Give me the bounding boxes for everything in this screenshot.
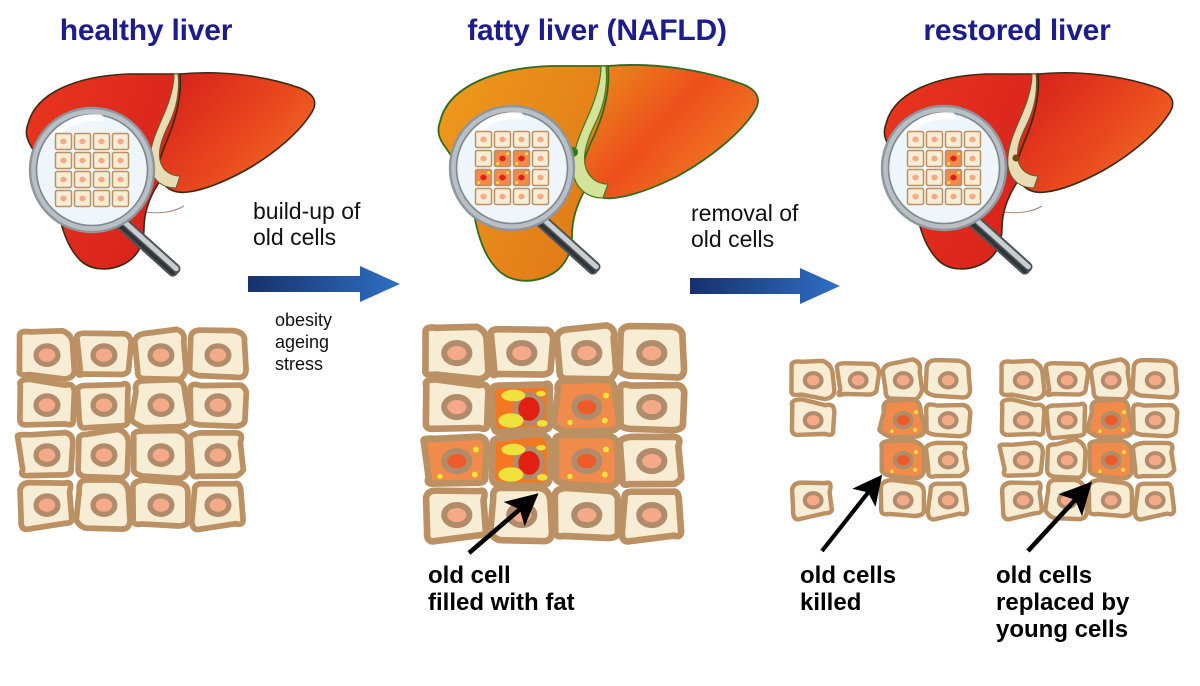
pointer-fat-cell [469,498,533,553]
caption-killed: old cells killed [800,563,990,617]
caption-fat-cell: old cell filled with fat [428,563,678,617]
pointer-killed [822,480,878,551]
caption-replaced: old cells replaced by young cells [996,563,1200,644]
pointer-replaced [1028,487,1087,551]
figure-canvas: healthy liver fatty liver (NAFLD) restor… [0,0,1200,686]
